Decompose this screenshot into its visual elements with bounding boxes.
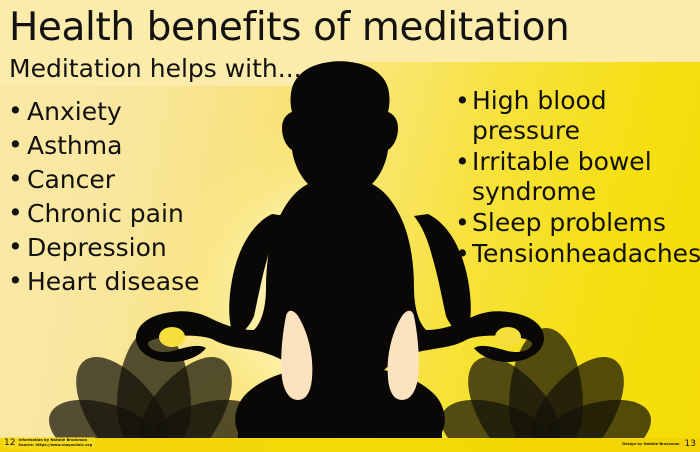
- list-item: Heart disease: [8, 266, 248, 297]
- list-item: Sleep problems: [455, 208, 700, 238]
- credit-left-lines: Information by Natalie Brockman Source: …: [18, 438, 92, 447]
- source-url: Source: https://www.mayoclinic.org: [18, 443, 92, 448]
- page-title: Health benefits of meditation: [9, 2, 569, 54]
- infographic-slide: Health benefits of meditation Meditation…: [0, 0, 700, 452]
- left-benefits-list: Anxiety Asthma Cancer Chronic pain Depre…: [8, 96, 248, 300]
- design-by: Design by Natalie Brockman: [622, 442, 679, 446]
- right-benefits-list: High blood pressure Irritable bowel synd…: [455, 86, 700, 270]
- list-item: Asthma: [8, 130, 248, 161]
- list-item: Chronic pain: [8, 198, 248, 229]
- list-item: Irritable bowel syndrome: [455, 147, 700, 207]
- page-number-right: 13: [685, 439, 696, 449]
- credit-left: 12 Information by Natalie Brockman Sourc…: [3, 437, 95, 449]
- list-item: Anxiety: [8, 96, 248, 127]
- list-item: Cancer: [8, 164, 248, 195]
- credit-right: Design by Natalie Brockman 13: [622, 439, 696, 449]
- bottom-strip: [0, 438, 700, 452]
- page-number-left: 12: [4, 438, 15, 448]
- right-hand-mudra-opening: [495, 327, 521, 347]
- list-item: High blood pressure: [455, 86, 700, 146]
- list-item: Tensionheadaches: [455, 239, 700, 269]
- list-item: Depression: [8, 232, 248, 263]
- left-hand-mudra-opening: [159, 327, 185, 347]
- page-subtitle: Meditation helps with...: [9, 52, 302, 86]
